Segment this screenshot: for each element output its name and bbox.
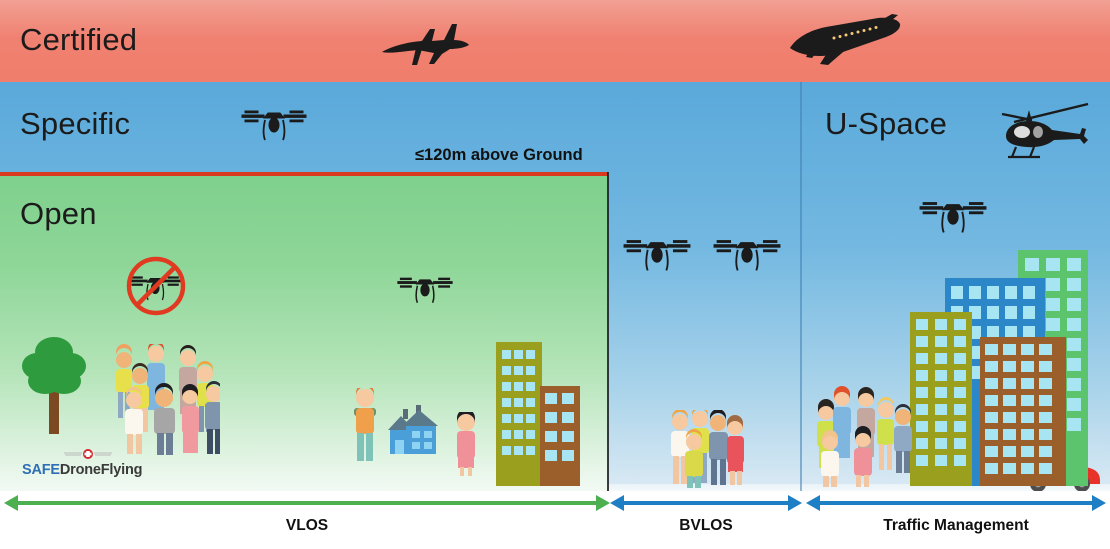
- drone-airspace-infographic: Certified Specific Open U-Space ≤120m ab…: [0, 0, 1110, 549]
- label-certified: Certified: [20, 22, 137, 58]
- arrow-head-left-icon: [4, 495, 18, 511]
- person-icon: [452, 412, 480, 476]
- military-uav-icon: [372, 18, 474, 70]
- crowd-icon: [666, 410, 748, 488]
- quadcopter-drone-icon: [396, 273, 454, 307]
- arrow-head-right-icon: [596, 495, 610, 511]
- arrow-head-left-icon: [806, 495, 820, 511]
- certified-airspace-band: [0, 0, 1110, 82]
- vlos-bvlos-divider: [607, 172, 609, 491]
- person-icon: [350, 388, 380, 464]
- arrow-bar: [17, 501, 597, 505]
- arrow-bar: [623, 501, 789, 505]
- arrow-head-right-icon: [1092, 495, 1106, 511]
- crowd-icon: [808, 384, 912, 488]
- house-icon: [386, 402, 444, 458]
- label-altitude-limit: ≤120m above Ground: [415, 146, 583, 165]
- quadcopter-drone-icon: [240, 105, 308, 145]
- building-icon: [980, 337, 1066, 486]
- quadcopter-drone-icon: [918, 196, 988, 238]
- helicopter-icon: [996, 100, 1092, 162]
- label-uspace: U-Space: [825, 106, 947, 142]
- building-icon: [496, 342, 542, 486]
- arrow-bar: [819, 501, 1093, 505]
- arrow-head-right-icon: [788, 495, 802, 511]
- quadcopter-drone-icon: [622, 234, 692, 276]
- axis-label-bvlos: BVLOS: [610, 517, 802, 535]
- operation-scope-axis: VLOS BVLOS Traffic Management: [0, 491, 1110, 549]
- axis-label-vlos: VLOS: [4, 517, 610, 535]
- tree-icon: [18, 326, 90, 436]
- airliner-icon: [782, 12, 910, 74]
- building-icon: [910, 312, 972, 486]
- axis-arrow-vlos: [4, 495, 610, 511]
- axis-arrow-row: [0, 491, 1110, 515]
- no-drone-prohibition-icon: [120, 254, 192, 318]
- brand-logo: SAFEDroneFlying: [22, 462, 142, 484]
- crowd-icon: [104, 344, 220, 456]
- label-specific: Specific: [20, 106, 130, 142]
- building-icon: [540, 386, 580, 486]
- quadcopter-drone-icon: [712, 234, 782, 276]
- axis-label-traffic-management: Traffic Management: [806, 517, 1106, 535]
- label-open: Open: [20, 196, 97, 232]
- axis-arrow-bvlos: [610, 495, 802, 511]
- logo-text-primary: SAFE: [22, 462, 60, 478]
- logo-drone-mark: [62, 448, 114, 462]
- axis-arrow-traffic-management: [806, 495, 1106, 511]
- logo-text: SAFEDroneFlying: [22, 462, 142, 478]
- logo-text-secondary: DroneFlying: [60, 462, 142, 478]
- uspace-zone-divider: [800, 82, 802, 491]
- arrow-head-left-icon: [610, 495, 624, 511]
